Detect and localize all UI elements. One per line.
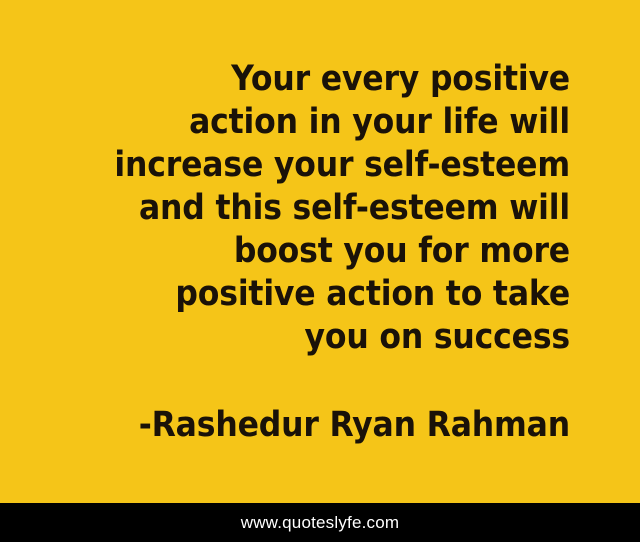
quote-card: Your every positive action in your life … — [0, 0, 640, 542]
footer-website-url: www.quoteslyfe.com — [241, 514, 400, 531]
quote-text: Your every positive action in your life … — [57, 58, 570, 359]
quote-region: Your every positive action in your life … — [0, 0, 570, 447]
footer-bar: www.quoteslyfe.com — [0, 503, 640, 542]
quote-author: -Rashedur Ryan Rahman — [57, 359, 570, 447]
